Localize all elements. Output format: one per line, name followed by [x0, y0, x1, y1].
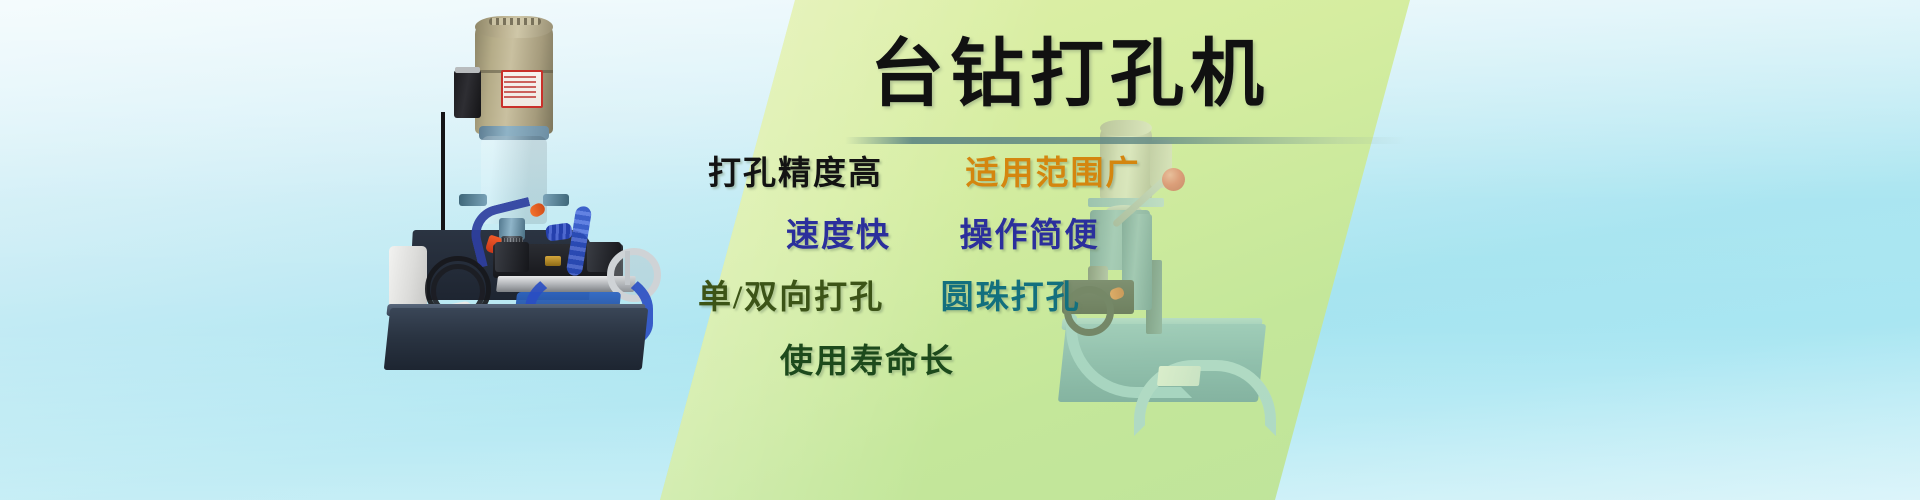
right-arm — [543, 194, 569, 206]
vise-jaw-left — [495, 242, 529, 272]
right-motor-cap — [1100, 120, 1152, 136]
product-banner: 台钻打孔机 打孔精度高 适用范围广 速度快 操作简便 单/双向打孔 圆珠打孔 使… — [0, 0, 1920, 500]
left-arm — [459, 194, 487, 206]
feature-row-4: 使用寿命长 — [780, 334, 955, 382]
feature-item-3: 速度快 — [786, 208, 891, 256]
motor-spec-label-text — [504, 76, 536, 101]
feature-list: 打孔精度高 适用范围广 速度快 操作简便 单/双向打孔 圆珠打孔 使用寿命长 — [660, 140, 1360, 390]
motor-vents — [489, 18, 541, 25]
feature-item-7: 使用寿命长 — [780, 334, 955, 382]
feature-item-5: 单/双向打孔 — [698, 270, 884, 318]
feature-row-1: 打孔精度高 适用范围广 — [708, 146, 1141, 194]
junction-box-lid — [455, 67, 480, 73]
feature-row-3: 单/双向打孔 圆珠打孔 — [698, 270, 1081, 318]
brass-workpiece — [545, 256, 561, 266]
machine-table — [384, 308, 649, 370]
feature-item-4: 操作简便 — [960, 208, 1100, 256]
junction-box — [454, 70, 481, 118]
feature-row-2: 速度快 操作简便 — [786, 208, 1100, 256]
banner-title: 台钻打孔机 — [760, 38, 1380, 112]
feature-item-6: 圆珠打孔 — [941, 270, 1081, 318]
left-machine-image — [375, 8, 650, 378]
feature-item-1: 打孔精度高 — [708, 146, 883, 194]
feature-item-2: 适用范围广 — [966, 146, 1141, 194]
